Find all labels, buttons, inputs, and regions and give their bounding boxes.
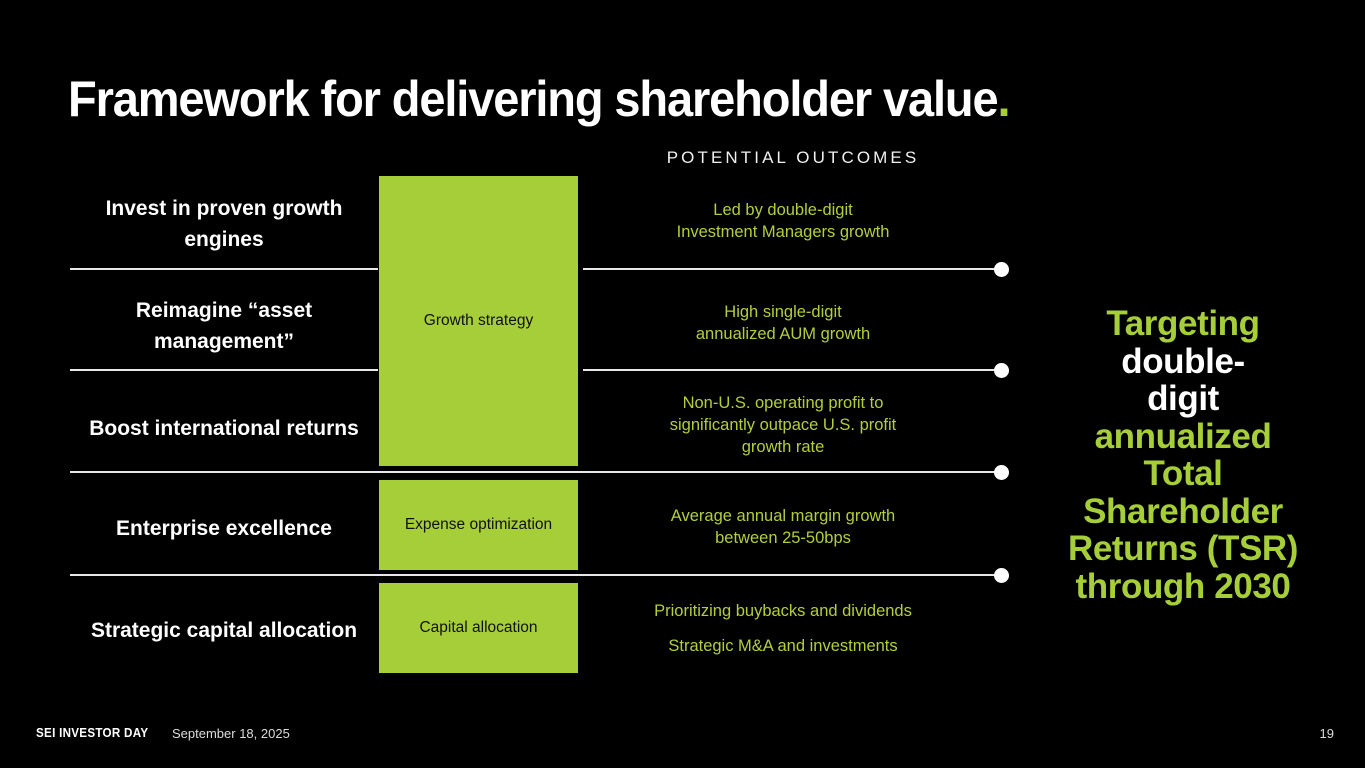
row-divider-3-full [70,471,1001,473]
pillar-label-strategic-capital-allocation: Strategic capital allocation [70,592,378,668]
outcome-line: significantly outpace U.S. profit [670,414,897,436]
outcome-line: Average annual margin growth [671,505,895,527]
row-divider-4-end-dot [994,568,1009,583]
footer-date: September 18, 2025 [172,726,290,741]
pillar-text: Invest in proven growth engines [70,193,378,255]
callout-line-5: Total [1043,455,1323,493]
green-box-expense-optimization: Expense optimization [379,480,578,570]
green-box-label: Expense optimization [405,515,552,535]
callout-line-8: through 2030 [1043,568,1323,606]
outcome-row-4: Average annual margin growth between 25-… [583,496,983,558]
outcome-line: Strategic M&A and investments [668,635,897,657]
pillar-text: Strategic capital allocation [91,615,357,646]
outcome-line: Investment Managers growth [677,221,890,243]
callout-line-3: digit [1043,380,1323,418]
outcome-line: High single-digit [724,301,841,323]
callout-line-1: Targeting [1043,305,1323,343]
outcome-line: Prioritizing buybacks and dividends [654,600,912,622]
row-divider-1-right [583,268,1001,270]
row-divider-1-left [70,268,378,270]
footer-brand: SEI INVESTOR DAY [36,726,148,740]
outcome-line: growth rate [742,436,825,458]
callout-line-2: double- [1043,343,1323,381]
row-divider-2-right [583,369,1001,371]
pillar-label-reimagine-asset-management: Reimagine “asset management” [70,288,378,364]
green-box-label: Growth strategy [424,311,533,331]
row-divider-2-left [70,369,378,371]
green-box-growth-strategy: Growth strategy [379,176,578,466]
pillar-text: Enterprise excellence [116,513,332,544]
row-divider-4-full [70,574,1001,576]
pillar-label-invest-in-proven-growth-engines: Invest in proven growth engines [70,186,378,262]
row-divider-1-end-dot [994,262,1009,277]
outcome-row-1: Led by double-digit Investment Managers … [583,190,983,252]
pillar-label-boost-international-returns: Boost international returns [70,390,378,466]
row-divider-2-end-dot [994,363,1009,378]
green-box-label: Capital allocation [419,618,537,638]
outcome-row-5: Prioritizing buybacks and dividends Stra… [583,592,983,664]
outcome-row-3: Non-U.S. operating profit to significant… [583,383,983,467]
callout-line-7: Returns (TSR) [1043,530,1323,568]
green-box-capital-allocation: Capital allocation [379,583,578,673]
outcome-line: Led by double-digit [713,199,852,221]
tsr-callout: Targeting double- digit annualized Total… [1043,305,1323,605]
slide-footer: SEI INVESTOR DAY September 18, 2025 19 [0,714,1365,768]
pillar-label-enterprise-excellence: Enterprise excellence [70,490,378,566]
pillar-text: Boost international returns [89,413,359,444]
row-divider-3-end-dot [994,465,1009,480]
outcome-line: between 25-50bps [715,527,851,549]
callout-line-6: Shareholder [1043,493,1323,531]
pillar-text: Reimagine “asset management” [70,295,378,357]
outcome-line: Non-U.S. operating profit to [683,392,884,414]
outcome-line: annualized AUM growth [696,323,870,345]
outcome-row-2: High single-digit annualized AUM growth [583,292,983,354]
page-number: 19 [1320,726,1334,741]
callout-line-4: annualized [1043,418,1323,456]
